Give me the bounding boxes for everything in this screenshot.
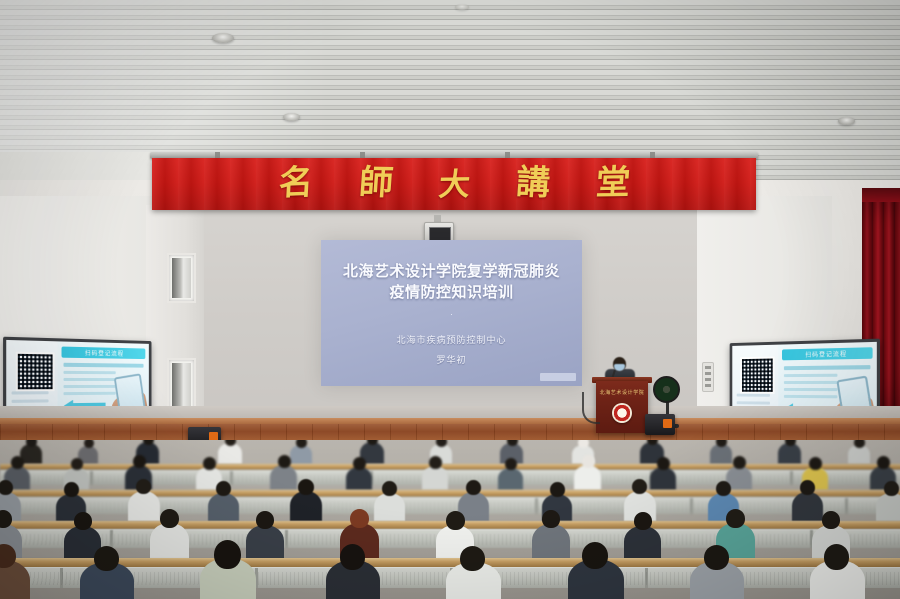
- wall-niche: [167, 358, 196, 412]
- stage-speaker-box: [645, 414, 675, 435]
- podium-cable: [582, 392, 600, 424]
- monitor-slide-header: 扫码登记流程: [62, 346, 146, 359]
- slide-bullet-dot: ·: [450, 309, 453, 319]
- downlight-icon: [283, 113, 300, 121]
- wall-niche: [167, 253, 196, 303]
- slide-presenter: 罗华初: [436, 353, 466, 366]
- podium: 北海艺术设计学院: [596, 381, 648, 433]
- banner-char: 名: [278, 166, 314, 201]
- banner-char: 堂: [594, 167, 630, 202]
- banner-char: 師: [357, 167, 393, 202]
- downlight-icon: [838, 117, 855, 125]
- wall-control-panel[interactable]: [702, 362, 714, 392]
- lecture-hall-photo: 名 師 大 講 堂 北海艺术设计学院复学新冠肺炎 疫情防控知识培训 · 北海市疾…: [0, 0, 900, 599]
- monitor-slide-header: 扫码登记流程: [782, 347, 873, 360]
- slide-watermark-logo: [540, 373, 576, 381]
- monitor-header-text: 扫码登记流程: [782, 348, 873, 359]
- downlight-icon: [212, 33, 234, 43]
- podium-front-text: 北海艺术设计学院: [596, 389, 648, 396]
- event-banner: 名 師 大 講 堂: [152, 158, 756, 210]
- slide-title-line2: 疫情防控知识培训: [389, 282, 513, 303]
- qr-code-icon: [740, 356, 774, 393]
- desk-row: [0, 558, 900, 567]
- downlight-icon: [455, 4, 469, 10]
- pedestal-fan-icon: [653, 376, 680, 403]
- school-emblem-icon: [612, 403, 632, 423]
- monitor-header-text: 扫码登记流程: [62, 347, 146, 358]
- slide-title-line1: 北海艺术设计学院复学新冠肺炎: [343, 261, 560, 282]
- qr-code-icon: [16, 352, 55, 392]
- curtain-valance: [862, 188, 900, 202]
- banner-char: 講: [514, 166, 550, 201]
- slide-organization: 北海市疾病预防控制中心: [396, 333, 506, 346]
- audience-seating-area: [0, 440, 900, 599]
- projection-screen: 北海艺术设计学院复学新冠肺炎 疫情防控知识培训 · 北海市疾病预防控制中心 罗华…: [321, 240, 582, 386]
- banner-char: 大: [437, 168, 471, 200]
